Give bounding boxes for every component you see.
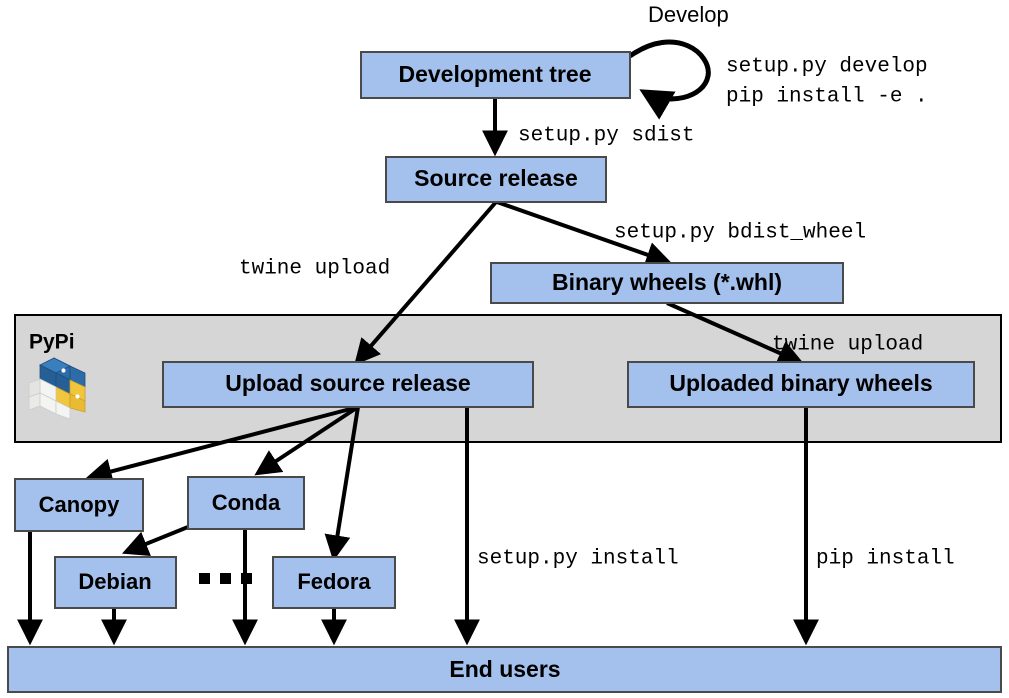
- development-tree-label: Development tree: [398, 61, 591, 87]
- pypi-group-label: PyPi: [29, 331, 75, 354]
- node-fedora[interactable]: Fedora: [273, 557, 395, 608]
- uploaded-binary-wheels-label: Uploaded binary wheels: [669, 370, 932, 396]
- node-development-tree[interactable]: Development tree: [361, 52, 630, 98]
- debian-label: Debian: [78, 569, 151, 594]
- source-release-label: Source release: [414, 165, 578, 191]
- canopy-label: Canopy: [39, 492, 120, 517]
- node-end-users[interactable]: End users: [8, 647, 1001, 692]
- edge-label-pip-install-e: pip install -e .: [726, 86, 928, 109]
- node-debian[interactable]: Debian: [55, 557, 176, 608]
- edge-label-setup-py-bdist-wheel: setup.py bdist_wheel: [614, 222, 866, 245]
- upload-source-release-label: Upload source release: [225, 370, 470, 396]
- node-upload-source-release[interactable]: Upload source release: [163, 362, 533, 407]
- node-canopy[interactable]: Canopy: [15, 479, 143, 531]
- edge-label-twine-upload-wheels: twine upload: [772, 334, 923, 357]
- diagram-canvas: PyPi: [0, 0, 1009, 698]
- edge-label-setup-py-develop: setup.py develop: [726, 56, 928, 79]
- edge-label-setup-py-sdist: setup.py sdist: [518, 125, 694, 148]
- ellipsis-dots: [199, 573, 252, 584]
- end-users-label: End users: [449, 656, 560, 682]
- node-uploaded-binary-wheels[interactable]: Uploaded binary wheels: [628, 362, 974, 407]
- node-binary-wheels[interactable]: Binary wheels (*.whl): [491, 263, 843, 303]
- conda-label: Conda: [212, 490, 281, 515]
- node-source-release[interactable]: Source release: [386, 157, 606, 202]
- fedora-label: Fedora: [297, 569, 371, 594]
- edge-label-pip-install: pip install: [816, 548, 955, 571]
- edge-develop-loop: [630, 42, 708, 99]
- edge-label-setup-py-install: setup.py install: [477, 548, 679, 571]
- binary-wheels-label: Binary wheels (*.whl): [552, 269, 782, 295]
- node-conda[interactable]: Conda: [188, 477, 304, 529]
- edge-label-develop: Develop: [648, 2, 729, 27]
- edge-label-twine-upload-source: twine upload: [239, 258, 390, 281]
- packaging-flow-diagram: PyPi: [0, 0, 1009, 698]
